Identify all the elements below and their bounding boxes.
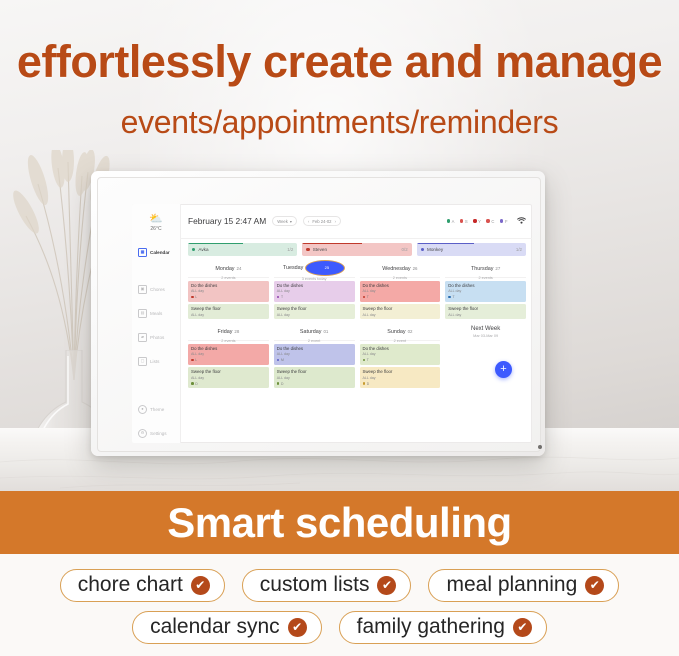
weather-widget[interactable]: ⛅ 26°C: [132, 204, 180, 240]
prev-week-icon[interactable]: ‹: [308, 219, 310, 224]
event-card[interactable]: Sweep the floor ALL day: [274, 304, 355, 319]
page-headline: effortlessly create and manage: [0, 36, 679, 88]
legend-item[interactable]: C: [486, 219, 494, 224]
day-number: 27: [495, 266, 500, 271]
legend-letter: Y: [478, 219, 481, 224]
member-legend: A S Y C: [447, 217, 526, 226]
event-assignee: T: [448, 295, 523, 299]
day-name: Saturday: [300, 329, 322, 335]
event-title: Do the dishes: [191, 283, 266, 288]
assignee-initial: D: [281, 382, 283, 386]
page-subheadline: events/appointments/reminders: [0, 104, 679, 141]
app-topbar: February 15 2:47 AM Week ▾ ‹ Feb 24-02 ›: [180, 204, 532, 239]
day-event-count: 3 events today: [302, 277, 327, 281]
member-dot: [421, 248, 424, 251]
feature-badge-family-gathering[interactable]: family gathering ✔: [339, 611, 547, 644]
sidebar-item-lists[interactable]: ▢ Lists: [132, 349, 180, 373]
event-title: Do the dishes: [363, 283, 438, 288]
product-photo-scene: effortlessly create and manage events/ap…: [0, 0, 679, 491]
sidebar-item-label: Meals: [150, 311, 162, 316]
view-selector-label: Week: [277, 219, 288, 224]
event-time: ALL day: [363, 376, 438, 380]
theme-icon: ●: [138, 405, 147, 414]
sidebar-item-label: Theme: [150, 407, 164, 412]
event-title: Do the dishes: [191, 346, 266, 351]
day-event-count: 2 event: [308, 339, 320, 343]
legend-item[interactable]: A: [447, 219, 455, 224]
sidebar-item-label: Lists: [150, 359, 159, 364]
feature-badge-custom-lists[interactable]: custom lists ✔: [242, 569, 412, 602]
check-icon: ✔: [288, 618, 307, 637]
partly-cloudy-icon: ⛅: [149, 214, 163, 225]
event-card[interactable]: Sweep the floor ALL day D: [274, 367, 355, 388]
member-count: 1/2: [287, 247, 293, 252]
day-number-today: 25: [305, 260, 345, 276]
sidebar-item-settings[interactable]: ⚙ Settings: [132, 421, 180, 443]
event-title: Do the dishes: [448, 283, 523, 288]
weather-temperature: 26°C: [150, 226, 161, 232]
day-column-sunday[interactable]: Sunday02 2 event Do the dishes ALL day T…: [360, 322, 441, 388]
sidebar-item-chores[interactable]: ▣ Chores: [132, 277, 180, 301]
event-title: Sweep the floor: [277, 306, 352, 311]
event-title: Do the dishes: [277, 283, 352, 288]
check-icon: ✔: [377, 576, 396, 595]
member-dot: [192, 248, 195, 251]
photos-icon: ▰: [138, 333, 147, 342]
day-header: Wednesday26 2 events: [360, 259, 441, 278]
badge-label: family gathering: [357, 615, 505, 639]
legend-dot: [460, 219, 463, 222]
sidebar-item-label: Chores: [150, 287, 165, 292]
member-name: Steven: [313, 247, 327, 252]
event-time: ALL day: [448, 313, 523, 317]
day-name: Sunday: [387, 329, 405, 335]
next-week-panel[interactable]: Next Week Mar 03-Mar 09: [445, 322, 526, 388]
sidebar-item-calendar[interactable]: ▦ Calendar: [132, 240, 180, 264]
legend-item[interactable]: F: [500, 219, 508, 224]
app-sidebar: ⛅ 26°C ▦ Calendar ▣ Chores ▤ Meals ▰: [132, 204, 181, 443]
event-title: Do the dishes: [363, 346, 438, 351]
day-header: Tuesday25 3 events today: [274, 259, 355, 278]
badge-label: chore chart: [78, 573, 183, 597]
day-column-tuesday[interactable]: Tuesday25 3 events today Do the dishes A…: [274, 259, 355, 319]
event-assignee: M: [277, 358, 352, 362]
next-week-icon[interactable]: ›: [335, 219, 337, 224]
day-number: 02: [408, 329, 413, 334]
sidebar-item-theme[interactable]: ● Theme: [132, 397, 180, 421]
event-card[interactable]: Do the dishes ALL day T: [360, 344, 441, 365]
assignee-initial: T: [452, 295, 454, 299]
event-card[interactable]: Do the dishes ALL day T: [445, 281, 526, 302]
event-time: ALL day: [363, 289, 438, 293]
event-assignee: L: [191, 295, 266, 299]
day-number: 28: [234, 329, 239, 334]
day-column-thursday[interactable]: Thursday27 2 events Do the dishes ALL da…: [445, 259, 526, 319]
feature-badge-row: calendar sync ✔ family gathering ✔: [0, 602, 679, 644]
event-title: Sweep the floor: [363, 369, 438, 374]
event-time: ALL day: [191, 352, 266, 356]
assignee-initial: T: [281, 295, 283, 299]
lists-icon: ▢: [138, 357, 147, 366]
event-title: Sweep the floor: [448, 306, 523, 311]
sidebar-item-label: Photos: [150, 335, 164, 340]
legend-dot: [486, 219, 489, 222]
day-event-count: 2 events: [478, 276, 492, 280]
check-icon: ✔: [585, 576, 604, 595]
event-time: ALL day: [191, 376, 266, 380]
check-icon: ✔: [191, 576, 210, 595]
day-name: Wednesday: [382, 266, 410, 272]
assignee-initial: D: [195, 382, 197, 386]
meals-icon: ▤: [138, 309, 147, 318]
chip-progress-bar: [302, 243, 362, 244]
assignee-initial: M: [281, 358, 284, 362]
day-name: Thursday: [471, 266, 493, 272]
wifi-icon[interactable]: [517, 217, 526, 226]
chip-progress-bar: [188, 243, 243, 244]
chevron-down-icon: ▾: [290, 219, 292, 224]
event-time: ALL day: [277, 313, 352, 317]
gear-icon: ⚙: [138, 429, 147, 438]
sidebar-item-label: Calendar: [150, 250, 170, 255]
event-card[interactable]: Do the dishes ALL day T: [274, 281, 355, 302]
assignee-initial: T: [367, 295, 369, 299]
member-dot: [306, 248, 309, 251]
legend-dot: [447, 219, 450, 222]
event-time: ALL day: [191, 313, 266, 317]
next-week-range: Mar 03-Mar 09: [473, 334, 498, 338]
event-time: ALL day: [363, 313, 438, 317]
app-main: February 15 2:47 AM Week ▾ ‹ Feb 24-02 ›: [180, 204, 532, 443]
event-time: ALL day: [277, 376, 352, 380]
event-assignee: D: [277, 382, 352, 386]
day-header: Friday28 2 events: [188, 322, 269, 341]
bottom-banner: Smart scheduling: [0, 491, 679, 554]
event-time: ALL day: [363, 352, 438, 356]
legend-dot: [500, 219, 503, 222]
feature-badge-calendar-sync[interactable]: calendar sync ✔: [132, 611, 322, 644]
assignee-initial: T: [367, 358, 369, 362]
day-header: Monday24 2 events: [188, 259, 269, 278]
event-title: Sweep the floor: [277, 369, 352, 374]
event-time: ALL day: [277, 289, 352, 293]
badge-label: calendar sync: [150, 615, 280, 639]
check-icon: ✔: [513, 618, 532, 637]
feature-badge-section: chore chart ✔ custom lists ✔ meal planni…: [0, 554, 679, 656]
event-card[interactable]: Sweep the floor ALL day D: [188, 367, 269, 388]
date-range-label: Feb 24-02: [312, 219, 331, 224]
day-name: Tuesday: [283, 265, 303, 271]
day-event-count: 2 event: [394, 339, 406, 343]
assignee-initial: L: [195, 358, 197, 362]
event-card[interactable]: Sweep the floor ALL day: [360, 304, 441, 319]
event-assignee: T: [363, 295, 438, 299]
day-header: Sunday02 2 event: [360, 322, 441, 341]
day-event-count: 2 events: [393, 276, 407, 280]
member-chip[interactable]: Monkey 1/2: [417, 243, 526, 256]
calendar-grid: Monday24 2 events Do the dishes ALL day …: [180, 259, 532, 388]
sidebar-item-label: Settings: [150, 431, 167, 436]
basket-icon: ▣: [138, 285, 147, 294]
feature-badge-meal-planning[interactable]: meal planning ✔: [428, 569, 619, 602]
calendar-week-row: Monday24 2 events Do the dishes ALL day …: [188, 259, 526, 319]
member-chip[interactable]: Steven 0/2: [302, 243, 411, 256]
day-event-count: 2 events: [221, 339, 235, 343]
event-assignee: L: [191, 358, 266, 362]
legend-letter: A: [452, 219, 455, 224]
assignee-initial: D: [367, 382, 369, 386]
next-week-title: Next Week: [471, 326, 500, 332]
sidebar-item-meals[interactable]: ▤ Meals: [132, 301, 180, 325]
tablet-camera-dot: [538, 445, 542, 449]
member-count: 1/2: [516, 247, 522, 252]
day-column-wednesday[interactable]: Wednesday26 2 events Do the dishes ALL d…: [360, 259, 441, 319]
day-header: Thursday27 2 events: [445, 259, 526, 278]
legend-dot: [473, 219, 476, 222]
date-range-nav[interactable]: ‹ Feb 24-02 ›: [303, 216, 341, 226]
day-number: 01: [323, 329, 328, 334]
event-card[interactable]: Do the dishes ALL day T: [360, 281, 441, 302]
event-assignee: D: [363, 382, 438, 386]
event-time: ALL day: [191, 289, 266, 293]
member-name: Monkey: [427, 247, 443, 252]
event-title: Sweep the floor: [191, 369, 266, 374]
day-number: 24: [237, 266, 242, 271]
day-name: Friday: [217, 329, 232, 335]
day-column-saturday[interactable]: Saturday01 2 event Do the dishes ALL day…: [274, 322, 355, 388]
event-card[interactable]: Sweep the floor ALL day: [188, 304, 269, 319]
calendar-icon: ▦: [138, 248, 147, 257]
day-column-friday[interactable]: Friday28 2 events Do the dishes ALL day …: [188, 322, 269, 388]
event-card[interactable]: Do the dishes ALL day M: [274, 344, 355, 365]
event-title: Sweep the floor: [191, 306, 266, 311]
current-datetime: February 15 2:47 AM: [188, 216, 266, 226]
feature-badge-chore-chart[interactable]: chore chart ✔: [60, 569, 225, 602]
day-header: Saturday01 2 event: [274, 322, 355, 341]
event-card[interactable]: Do the dishes ALL day L: [188, 344, 269, 365]
feature-badge-row: chore chart ✔ custom lists ✔ meal planni…: [0, 554, 679, 602]
day-event-count: 2 events: [221, 276, 235, 280]
legend-item[interactable]: S: [460, 219, 468, 224]
member-count: 0/2: [402, 247, 408, 252]
event-title: Do the dishes: [277, 346, 352, 351]
day-number: 26: [413, 266, 418, 271]
event-card[interactable]: Sweep the floor ALL day: [445, 304, 526, 319]
assignee-initial: L: [195, 295, 197, 299]
legend-item[interactable]: Y: [473, 219, 481, 224]
banner-title: Smart scheduling: [167, 499, 511, 547]
legend-letter: F: [505, 219, 508, 224]
legend-letter: C: [491, 219, 494, 224]
sidebar-item-photos[interactable]: ▰ Photos: [132, 325, 180, 349]
legend-letter: S: [465, 219, 468, 224]
event-card[interactable]: Sweep the floor ALL day D: [360, 367, 441, 388]
badge-label: custom lists: [260, 573, 370, 597]
tablet-screen: ⛅ 26°C ▦ Calendar ▣ Chores ▤ Meals ▰: [132, 204, 532, 443]
member-chip[interactable]: Avka 1/2: [188, 243, 297, 256]
calendar-week-row: Friday28 2 events Do the dishes ALL day …: [188, 322, 526, 388]
member-name: Avka: [198, 247, 208, 252]
day-name: Monday: [215, 266, 234, 272]
badge-label: meal planning: [446, 573, 577, 597]
event-assignee: D: [191, 382, 266, 386]
day-column-monday[interactable]: Monday24 2 events Do the dishes ALL day …: [188, 259, 269, 319]
event-time: ALL day: [448, 289, 523, 293]
event-title: Sweep the floor: [363, 306, 438, 311]
event-assignee: T: [363, 358, 438, 362]
view-selector[interactable]: Week ▾: [272, 216, 297, 226]
event-card[interactable]: Do the dishes ALL day L: [188, 281, 269, 302]
tablet-device: ⛅ 26°C ▦ Calendar ▣ Chores ▤ Meals ▰: [91, 171, 545, 456]
event-time: ALL day: [277, 352, 352, 356]
chip-progress-bar: [417, 243, 474, 244]
event-assignee: T: [277, 295, 352, 299]
